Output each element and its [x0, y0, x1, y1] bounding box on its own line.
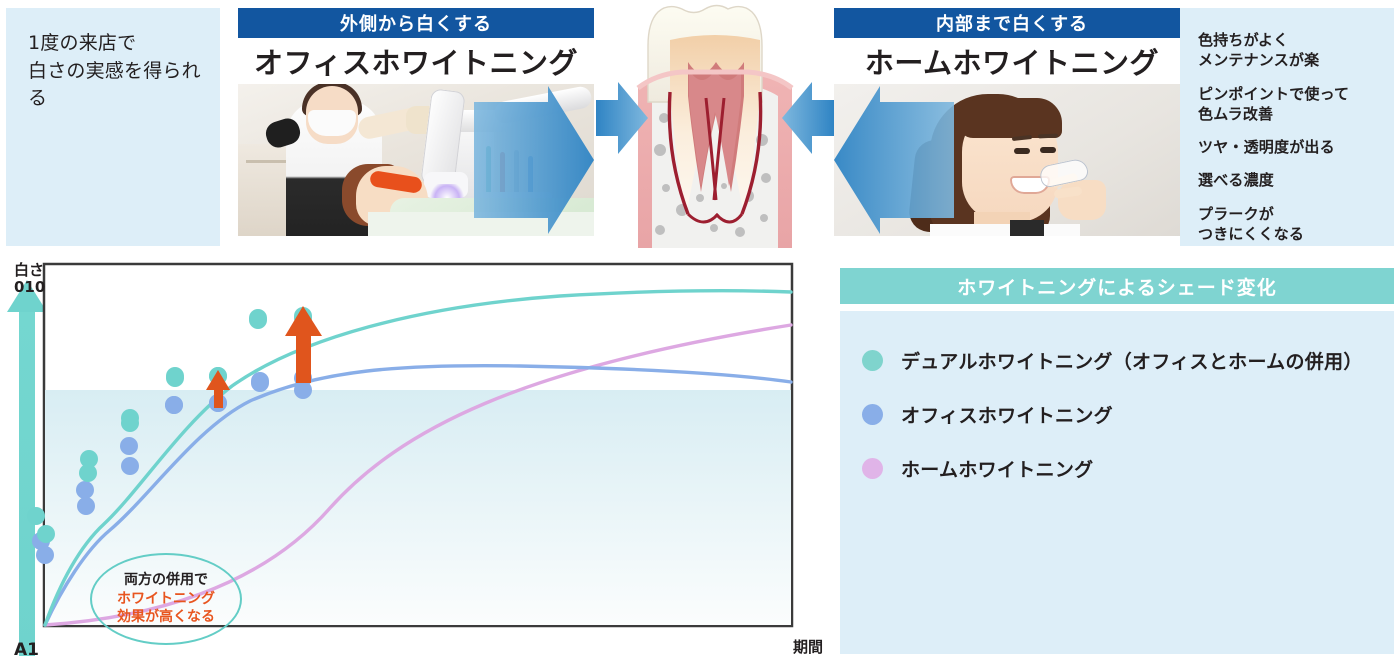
photo-hand	[1058, 180, 1106, 220]
right-benefit-panel: 色持ちがよく メンテナンスが楽 ピンポイントで使って 色ムラ改善 ツヤ・透明度が…	[1180, 8, 1394, 246]
legend-item-dual: デュアルホワイトニング（オフィスとホームの併用）	[862, 347, 1394, 374]
legend-dot-home-icon	[862, 458, 883, 479]
y-threshold-label: A1	[14, 640, 39, 660]
left-panel-line-2: 白さの実感を得られる	[28, 58, 208, 113]
annotation-dual-line1: 両方の併用で	[124, 571, 208, 590]
benefit-item: プラークが つきにくくなる	[1198, 204, 1384, 245]
infographic-root: 1度の来店で 白さの実感を得られる 外側から白くする オフィスホワイトニング	[0, 0, 1400, 664]
shade-change-chart: 白さ 010 A1 期間	[0, 258, 830, 664]
benefit-item: 色持ちがよく メンテナンスが楽	[1198, 30, 1384, 71]
home-whitening-photo	[834, 84, 1190, 236]
benefit-item: ツヤ・透明度が出る	[1198, 137, 1384, 157]
home-badge: 内部まで白くする	[834, 8, 1190, 38]
legend-label-dual: デュアルホワイトニング（オフィスとホームの併用）	[901, 347, 1363, 374]
x-axis-label: 期間	[793, 636, 823, 657]
photo-face-mask	[308, 110, 356, 136]
legend-item-home: ホームホワイトニング	[862, 455, 1394, 482]
arrow-left-overlay-icon	[834, 84, 954, 236]
office-title: オフィスホワイトニング	[238, 38, 594, 84]
home-whitening-column: 内部まで白くする ホームホワイトニング	[834, 8, 1190, 246]
annotation-dual: 両方の併用で ホワイトニング 効果が高くなる	[90, 553, 242, 645]
photo-shirt-accent	[1010, 220, 1044, 236]
left-panel-text: 1度の来店で 白さの実感を得られる	[28, 30, 208, 113]
legend-items: デュアルホワイトニング（オフィスとホームの併用） オフィスホワイトニング ホーム…	[840, 311, 1394, 654]
arrow-right-overlay-icon	[474, 84, 594, 236]
left-benefit-panel: 1度の来店で 白さの実感を得られる	[6, 8, 220, 246]
legend-dot-dual-icon	[862, 350, 883, 371]
benefit-item: 選べる濃度	[1198, 170, 1384, 190]
legend-label-home: ホームホワイトニング	[901, 455, 1093, 482]
whiteness-direction-arrow-icon	[7, 280, 47, 656]
y-axis-label-line2: 010	[14, 279, 45, 296]
office-whitening-photo	[238, 84, 594, 236]
left-panel-line-1: 1度の来店で	[28, 30, 208, 58]
office-whitening-column: 外側から白くする オフィスホワイトニング	[238, 8, 594, 246]
benefit-list: 色持ちがよく メンテナンスが楽 ピンポイントで使って 色ムラ改善 ツヤ・透明度が…	[1198, 30, 1384, 257]
y-axis-label-line1: 白さ	[14, 262, 45, 279]
photo-fringe	[958, 98, 1062, 138]
legend-label-office: オフィスホワイトニング	[901, 401, 1113, 428]
photo-eye	[1040, 147, 1056, 153]
annotation-dual-line2: ホワイトニング	[117, 590, 215, 609]
benefit-item: ピンポイントで使って 色ムラ改善	[1198, 84, 1384, 125]
home-title: ホームホワイトニング	[834, 38, 1190, 84]
photo-eye	[1014, 148, 1030, 154]
y-axis-label: 白さ 010	[14, 262, 45, 297]
tooth-diagram	[596, 0, 834, 248]
legend-title: ホワイトニングによるシェード変化	[840, 268, 1394, 304]
office-badge: 外側から白くする	[238, 8, 594, 38]
legend-panel: ホワイトニングによるシェード変化 デュアルホワイトニング（オフィスとホームの併用…	[840, 268, 1394, 654]
annotation-dual-line3: 効果が高くなる	[117, 608, 215, 627]
legend-item-office: オフィスホワイトニング	[862, 401, 1394, 428]
tooth-cross-section-icon	[596, 0, 834, 248]
legend-dot-office-icon	[862, 404, 883, 425]
